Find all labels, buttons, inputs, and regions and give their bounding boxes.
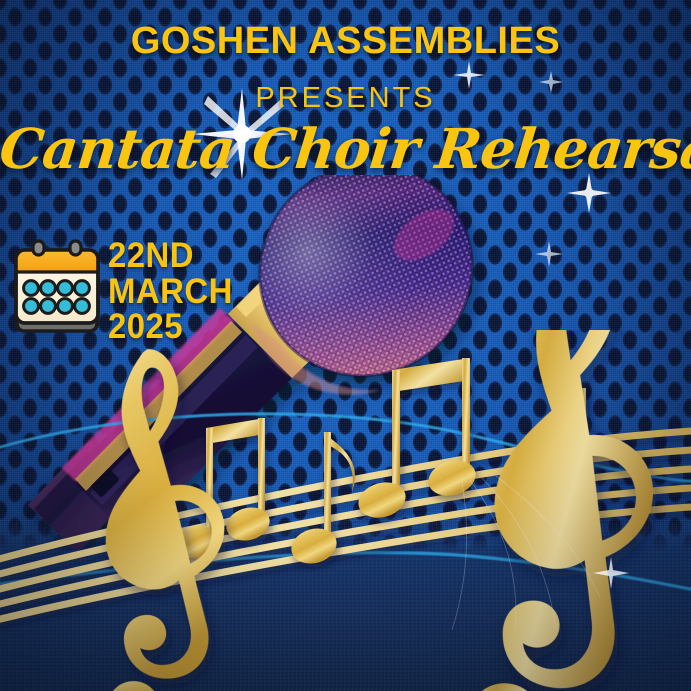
event-headline: Cantata Choir Rehearsal bbox=[0, 116, 691, 181]
event-date-month: MARCH bbox=[108, 274, 233, 310]
presents-label: PRESENTS bbox=[0, 82, 691, 115]
page-title: GOSHEN ASSEMBLIES bbox=[0, 20, 691, 63]
calendar-icon bbox=[8, 238, 106, 338]
event-date-year: 2025 bbox=[108, 309, 233, 345]
event-poster: GOSHEN ASSEMBLIES PRESENTS Cantata Choir… bbox=[0, 0, 691, 691]
event-date: 22ND MARCH 2025 bbox=[108, 238, 241, 345]
event-date-day: 22ND bbox=[108, 238, 233, 274]
